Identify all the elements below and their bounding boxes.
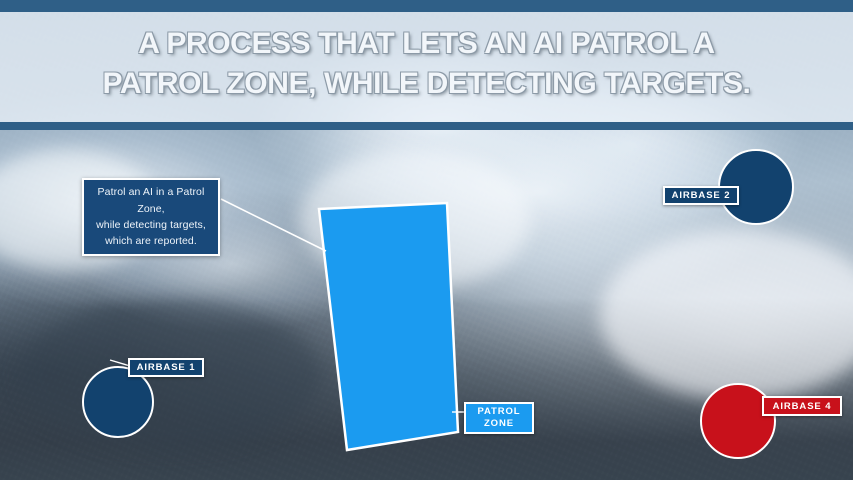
patrol-zone-polygon[interactable] (319, 203, 458, 450)
airbase-1-label[interactable]: AIRBASE 1 (128, 358, 204, 377)
callout-connector-line (221, 199, 326, 251)
callout-text: Patrol an AI in a Patrol Zone, while det… (84, 184, 218, 249)
callout-box[interactable]: Patrol an AI in a Patrol Zone, while det… (82, 178, 220, 256)
airbase-4-label[interactable]: AIRBASE 4 (762, 396, 842, 416)
airbase-2-label[interactable]: AIRBASE 2 (663, 186, 739, 205)
airbase-4-circle[interactable] (700, 383, 776, 459)
patrol-zone-label[interactable]: PATROL ZONE (464, 402, 534, 434)
slide-canvas: A PROCESS THAT LETS AN AI PATROL A PATRO… (0, 0, 853, 480)
